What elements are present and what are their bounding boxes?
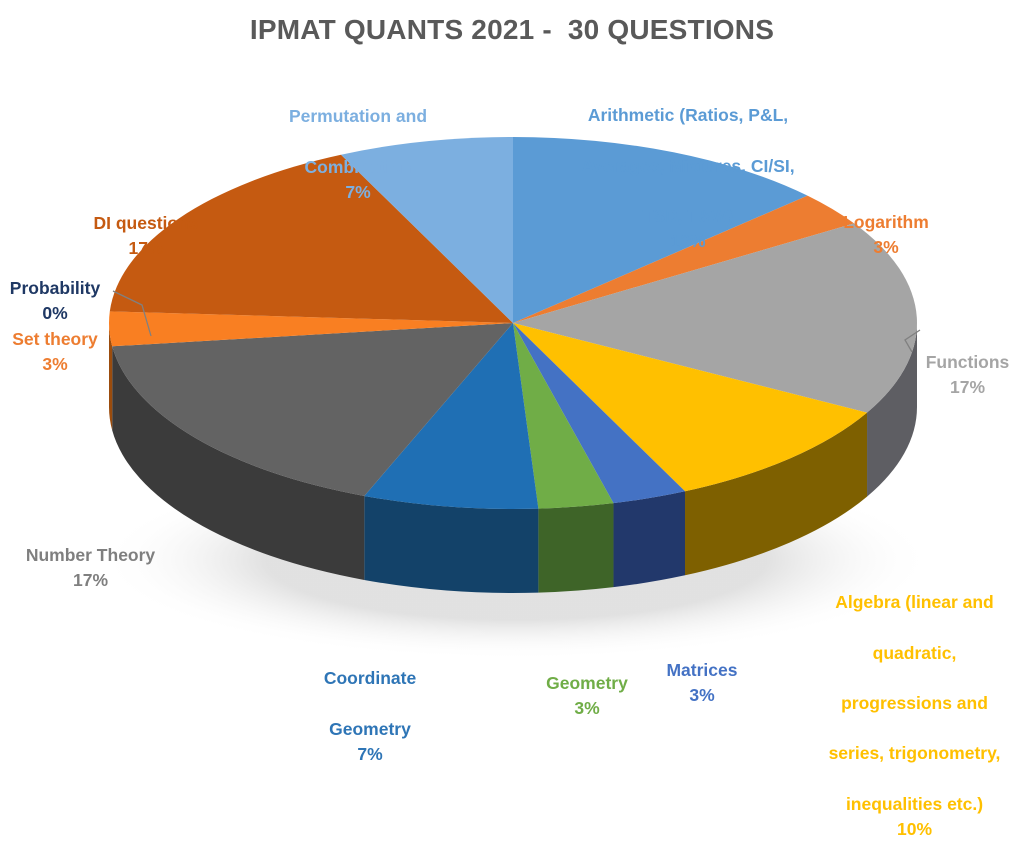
slice-value-geometry: 3% <box>528 696 646 721</box>
slice-label-coordinate-geometry-line2: Geometry <box>329 719 411 739</box>
pie-slice-side-coordinate-geometry <box>364 496 538 593</box>
slice-label-set-theory-name: Set theory <box>12 329 98 349</box>
slice-value-di-questions: 17% <box>60 236 232 261</box>
slice-label-coordinate-geometry: Coordinate Geometry 7% <box>280 641 460 792</box>
pie-slice-side-matrices <box>613 491 685 587</box>
slice-label-number-theory-name: Number Theory <box>26 545 155 565</box>
slice-label-functions: Functions 17% <box>905 325 1024 426</box>
slice-label-arithmetic: Arithmetic (Ratios, P&L, Averages, Mixtu… <box>574 78 802 280</box>
slice-value-arithmetic: 13% <box>574 229 802 254</box>
slice-value-matrices: 3% <box>638 683 766 708</box>
slice-value-algebra: 10% <box>812 817 1017 842</box>
pie-chart-figure: IPMAT QUANTS 2021 - 30 QUESTIONS Arithme… <box>0 0 1024 775</box>
slice-label-geometry: Geometry 3% <box>528 646 646 747</box>
slice-label-algebra-line2: quadratic, <box>873 643 957 663</box>
slice-label-algebra: Algebra (linear and quadratic, progressi… <box>812 565 1017 867</box>
slice-label-number-theory: Number Theory 17% <box>0 518 183 619</box>
pie-slice-side-geometry <box>538 503 613 592</box>
slice-label-matrices: Matrices 3% <box>638 633 766 734</box>
slice-label-coordinate-geometry-line1: Coordinate <box>324 668 416 688</box>
slice-label-set-theory: Set theory 3% <box>0 302 114 403</box>
slice-value-coordinate-geometry: 7% <box>280 742 460 767</box>
slice-label-permutation-combination-line2: Combination <box>305 157 412 177</box>
slice-label-geometry-name: Geometry <box>546 673 628 693</box>
slice-label-algebra-line1: Algebra (linear and <box>835 592 994 612</box>
slice-label-matrices-name: Matrices <box>666 660 737 680</box>
slice-value-functions: 17% <box>905 375 1024 400</box>
slice-label-di-questions: DI questions 17% <box>60 186 232 287</box>
slice-label-arithmetic-line3: TSD, T&W) <box>643 206 733 226</box>
slice-label-logarithm: Logarithm 3% <box>806 185 966 286</box>
slice-label-logarithm-name: Logarithm <box>843 212 929 232</box>
slice-label-functions-name: Functions <box>926 352 1010 372</box>
slice-label-arithmetic-line1: Arithmetic (Ratios, P&L, <box>588 105 788 125</box>
slice-label-permutation-combination: Permutation and Combination 7% <box>252 79 464 230</box>
slice-label-algebra-line4: series, trigonometry, <box>829 743 1001 763</box>
slice-label-algebra-line5: inequalities etc.) <box>846 794 983 814</box>
slice-label-permutation-combination-line1: Permutation and <box>289 106 427 126</box>
slice-value-set-theory: 3% <box>0 352 114 377</box>
slice-label-arithmetic-line2: Averages, Mixtures, CI/SI, <box>581 156 794 176</box>
slice-value-logarithm: 3% <box>806 235 966 260</box>
slice-value-number-theory: 17% <box>0 568 183 593</box>
slice-label-di-questions-name: DI questions <box>93 213 198 233</box>
slice-value-permutation-combination: 7% <box>252 180 464 205</box>
slice-label-algebra-line3: progressions and <box>841 693 988 713</box>
